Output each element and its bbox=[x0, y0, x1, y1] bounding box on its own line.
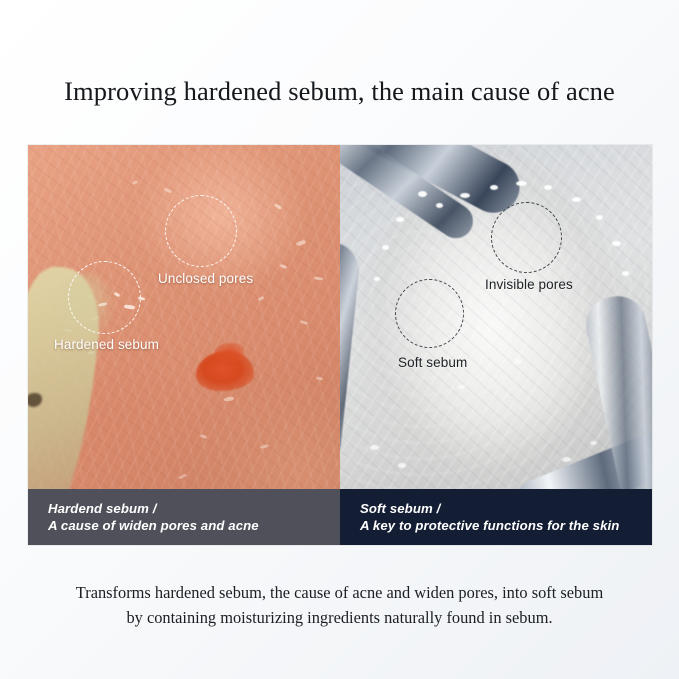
unclosed-pores-circle bbox=[165, 195, 237, 267]
hardened-sebum-label: Hardened sebum bbox=[54, 337, 159, 352]
hardened-sebum-circle bbox=[68, 261, 141, 334]
unclosed-pore-spot-highlight bbox=[214, 343, 244, 363]
soft-sebum-label: Soft sebum bbox=[398, 355, 467, 370]
body-line-1: Transforms hardened sebum, the cause of … bbox=[40, 580, 639, 605]
body-line-2: by containing moisturizing ingredients n… bbox=[40, 605, 639, 630]
invisible-pores-circle bbox=[491, 202, 562, 273]
comparison-figure: Unclosed pores Hardened sebum Hardend se… bbox=[28, 145, 652, 545]
invisible-pores-label: Invisible pores bbox=[485, 277, 573, 292]
right-photo-panel: Invisible pores Soft sebum Soft sebum / … bbox=[340, 145, 652, 545]
left-photo-panel: Unclosed pores Hardened sebum Hardend se… bbox=[28, 145, 340, 545]
body-paragraph: Transforms hardened sebum, the cause of … bbox=[40, 580, 639, 630]
right-caption-line1: Soft sebum / bbox=[360, 500, 652, 518]
infographic-page: Improving hardened sebum, the main cause… bbox=[0, 0, 679, 679]
unclosed-pores-label: Unclosed pores bbox=[158, 271, 253, 286]
left-caption-line2: A cause of widen pores and acne bbox=[48, 517, 340, 535]
soft-sebum-circle bbox=[395, 279, 464, 348]
right-caption-bar: Soft sebum / A key to protective functio… bbox=[340, 489, 652, 545]
right-caption-line2: A key to protective functions for the sk… bbox=[360, 517, 652, 535]
left-caption-bar: Hardend sebum / A cause of widen pores a… bbox=[28, 489, 340, 545]
page-title: Improving hardened sebum, the main cause… bbox=[0, 76, 679, 107]
left-caption-line1: Hardend sebum / bbox=[48, 500, 340, 518]
